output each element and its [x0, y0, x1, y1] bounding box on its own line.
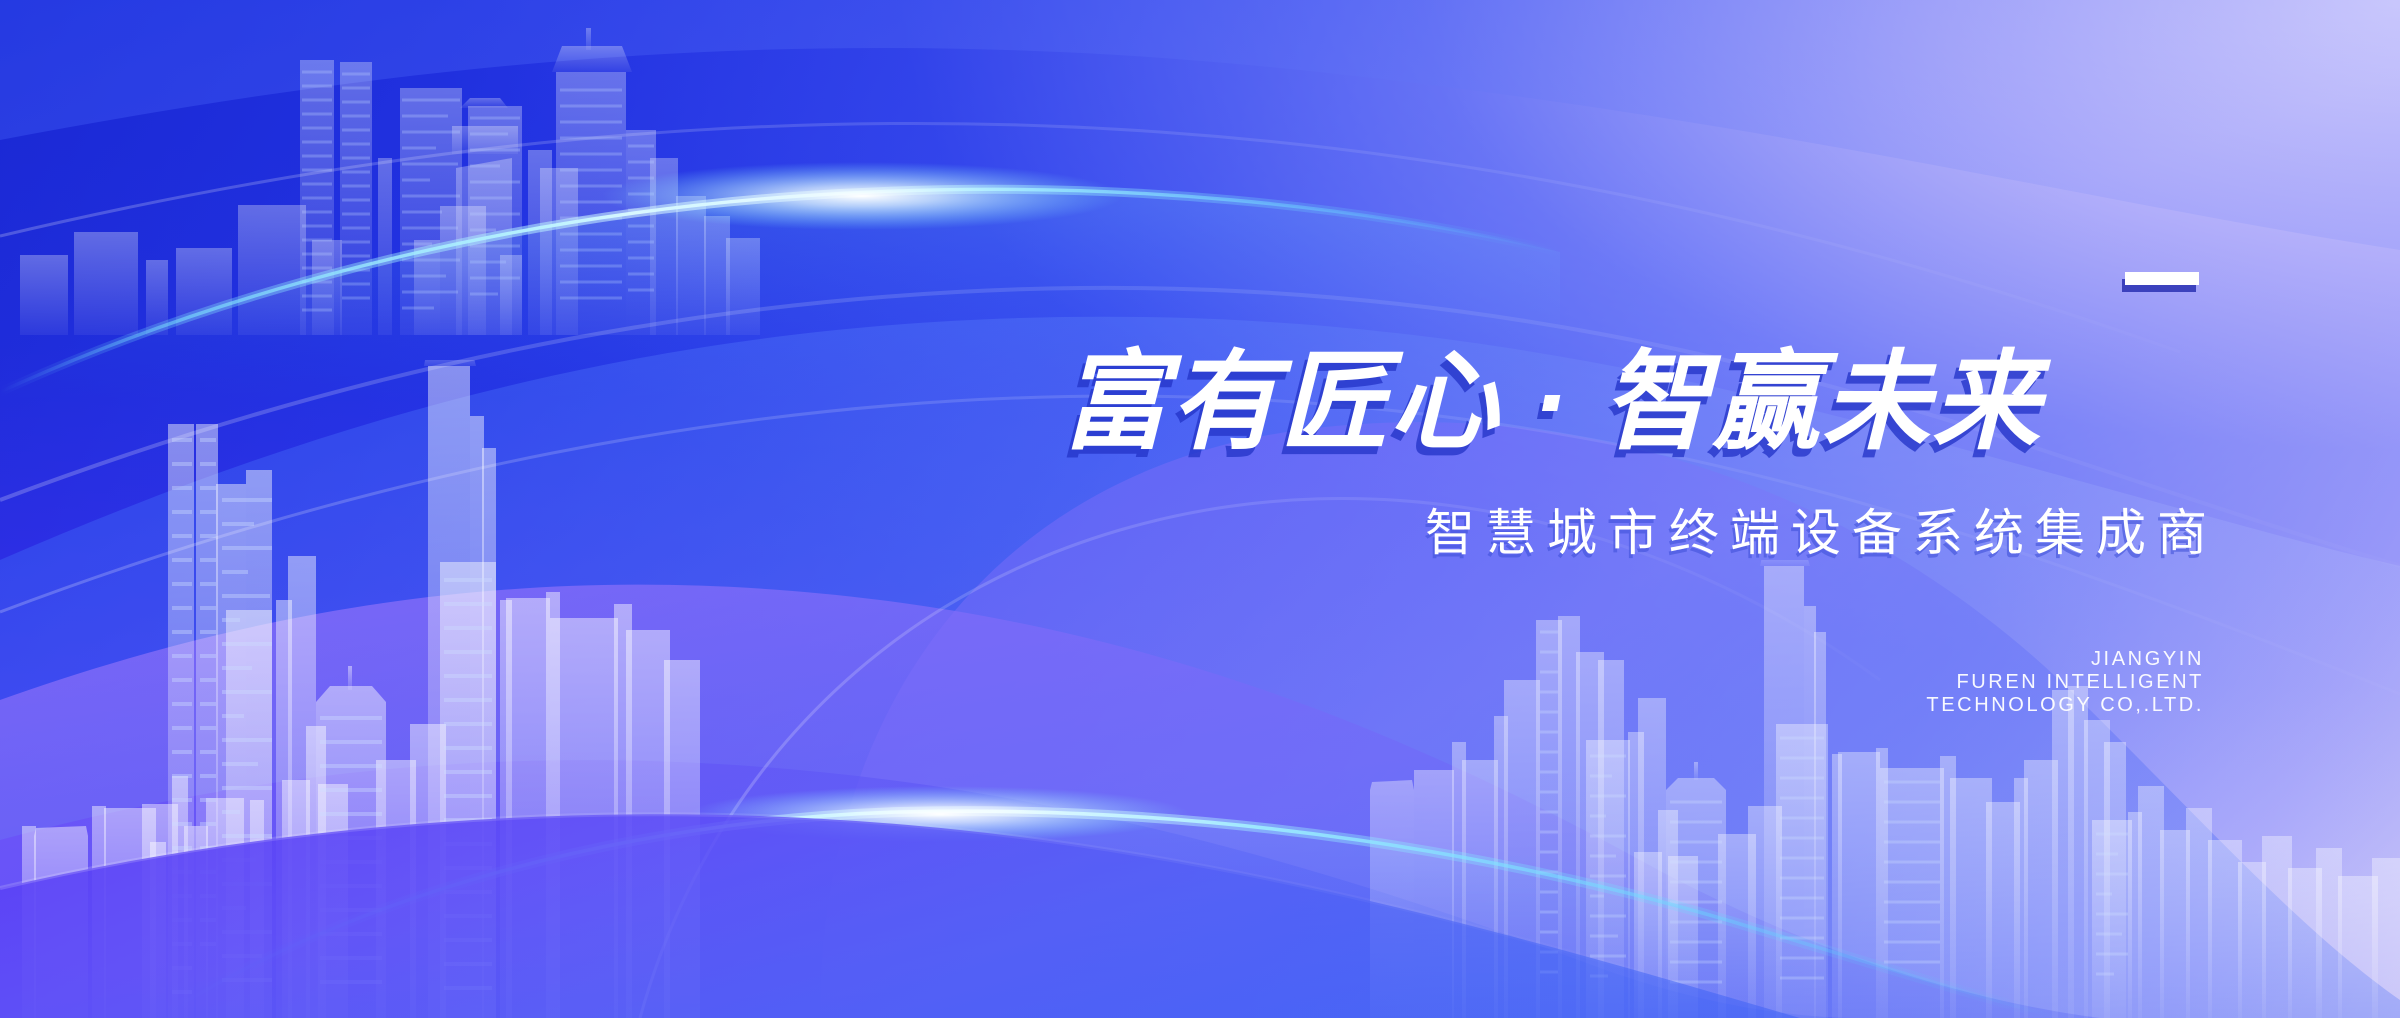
- banner-root: 富有匠心 · 智赢未来 智慧城市终端设备系统集成商 JIANGYIN FUREN…: [0, 0, 2400, 1018]
- foreground-wave: [0, 0, 2400, 1018]
- foreground-wave-shape: [0, 814, 1800, 1018]
